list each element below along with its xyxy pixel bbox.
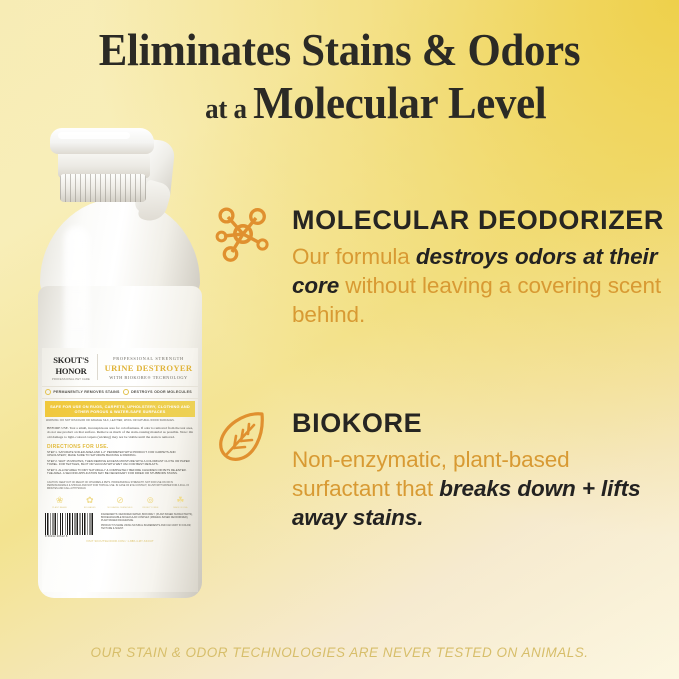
label-badge-caption: BIO-BASED <box>75 507 104 510</box>
feature-body-post: without leaving a covering scent behind. <box>292 273 661 327</box>
product-label: SKOUT'S HONOR PROFESSIONAL PET CARE PROF… <box>42 348 198 592</box>
headline-line-2-big: Molecular Level <box>253 77 546 128</box>
label-safe-surfaces-band: SAFE FOR USE ON RUGS, CARPETS, UPHOLSTER… <box>45 401 195 417</box>
label-natural-note: PRODUCT IS MADE USING NATURAL INGREDIENT… <box>101 524 195 530</box>
headline-line-2-small: at a <box>205 93 253 125</box>
label-technology: WITH BIOKORE® TECHNOLOGY <box>103 375 194 380</box>
label-claim-text: DESTROYS ODOR MOLECULES <box>131 390 192 394</box>
label-claims-row: PERMANENTLY REMOVES STAINS DESTROYS ODOR… <box>42 386 198 399</box>
label-badge-caption: NO HARSH CHEMICALS <box>105 507 134 510</box>
no-harsh-chemicals-icon: ⊘ <box>105 495 134 506</box>
leaf-icon <box>214 408 272 466</box>
label-before-use: BEFORE USE. Test a small, inconspicuous … <box>42 423 198 440</box>
feature-body: Non-enzymatic, plant-based surfactant th… <box>292 445 664 532</box>
cruelty-free-icon: ⊚ <box>136 495 165 506</box>
feature-body-pre: Our formula <box>292 244 416 269</box>
barcode-block: 8 50012 00512 8 <box>45 513 97 539</box>
label-badge: ✿ BIO-BASED <box>75 495 104 509</box>
label-strength: PROFESSIONAL STRENGTH <box>103 356 194 361</box>
label-warning: WARNING: DO NOT DISCOLOR OR DAMAGE SILK,… <box>42 417 198 423</box>
label-footer: 8 50012 00512 8 INGREDIENTS: DEIONIZED W… <box>42 512 198 539</box>
headline-line-1: Eliminates Stains & Odors <box>24 24 655 76</box>
check-icon <box>45 389 51 395</box>
label-product-name: URINE DESTROYER <box>103 363 194 373</box>
product-marketing-image: Eliminates Stains & Odors at a Molecular… <box>0 0 679 679</box>
feature-text-block: MOLECULAR DEODORIZER Our formula destroy… <box>292 205 664 329</box>
product-bottle: SKOUT'S HONOR PROFESSIONAL PET CARE PROF… <box>34 126 210 610</box>
feature-biokore: BIOKORE Non-enzymatic, plant-based surfa… <box>214 408 664 532</box>
label-claim: PERMANENTLY REMOVES STAINS <box>45 389 120 395</box>
brand-logo-line-2: HONOR <box>47 366 95 376</box>
made-in-usa-icon: ☘ <box>166 495 195 506</box>
label-url: VISIT SKOUTSHONOR.COM / 1-888-4-MY-SKOUT <box>42 538 198 543</box>
label-step: STEP 3. ALLOW AREA TO DRY NATURALLY & CO… <box>42 469 198 478</box>
label-title-block: PROFESSIONAL STRENGTH URINE DESTROYER WI… <box>103 353 194 381</box>
feature-text-block: BIOKORE Non-enzymatic, plant-based surfa… <box>292 408 664 532</box>
label-badge: ☘ MADE IN USA <box>166 495 195 509</box>
label-badge-caption: CRUELTY FREE <box>136 507 165 510</box>
label-badge: ⊚ CRUELTY FREE <box>136 495 165 509</box>
barcode-number: 8 50012 00512 8 <box>45 535 97 538</box>
label-claim: DESTROYS ODOR MOLECULES <box>120 389 195 395</box>
label-ingredients-block: INGREDIENTS: DEIONIZED WATER, BIOKORE™ (… <box>97 513 195 539</box>
brand-logo: SKOUT'S HONOR PROFESSIONAL PET CARE <box>47 353 95 381</box>
check-icon <box>123 389 129 395</box>
label-badge-caption: PLANT BASED <box>45 507 74 510</box>
page-title: Eliminates Stains & Odors at a Molecular… <box>0 24 679 141</box>
label-caution: CAUTION: KEEP OUT OF REACH OF CHILDREN &… <box>42 478 198 491</box>
label-badge: ⊘ NO HARSH CHEMICALS <box>105 495 134 509</box>
label-badge-caption: MADE IN USA <box>166 507 195 510</box>
footer-tagline: OUR STAIN & ODOR TECHNOLOGIES ARE NEVER … <box>0 645 679 660</box>
feature-body: Our formula destroys odors at their core… <box>292 242 664 329</box>
label-divider <box>97 354 98 380</box>
label-safe-surfaces-text: SAFE FOR USE ON RUGS, CARPETS, UPHOLSTER… <box>48 404 192 415</box>
feature-title: MOLECULAR DEODORIZER <box>292 205 664 235</box>
barcode-icon <box>45 513 93 535</box>
label-directions-heading: DIRECTIONS FOR USE. <box>42 440 198 451</box>
feature-title: BIOKORE <box>292 408 664 438</box>
brand-logo-tagline: PROFESSIONAL PET CARE <box>47 378 95 381</box>
brand-logo-line-1: SKOUT'S <box>47 355 95 365</box>
feature-molecular-deodorizer: MOLECULAR DEODORIZER Our formula destroy… <box>214 205 664 329</box>
plant-based-icon: ❀ <box>45 495 74 506</box>
bio-based-icon: ✿ <box>75 495 104 506</box>
label-badge-row: ❀ PLANT BASED ✿ BIO-BASED ⊘ NO HARSH CHE… <box>42 490 198 511</box>
label-claim-text: PERMANENTLY REMOVES STAINS <box>53 390 119 394</box>
label-badge: ❀ PLANT BASED <box>45 495 74 509</box>
molecule-icon <box>214 205 272 263</box>
label-header: SKOUT'S HONOR PROFESSIONAL PET CARE PROF… <box>42 348 198 384</box>
label-ingredients: INGREDIENTS: DEIONIZED WATER, BIOKORE™ (… <box>101 513 195 522</box>
sprayer-collar <box>60 174 146 202</box>
sprayer-nozzle-top <box>50 128 154 154</box>
